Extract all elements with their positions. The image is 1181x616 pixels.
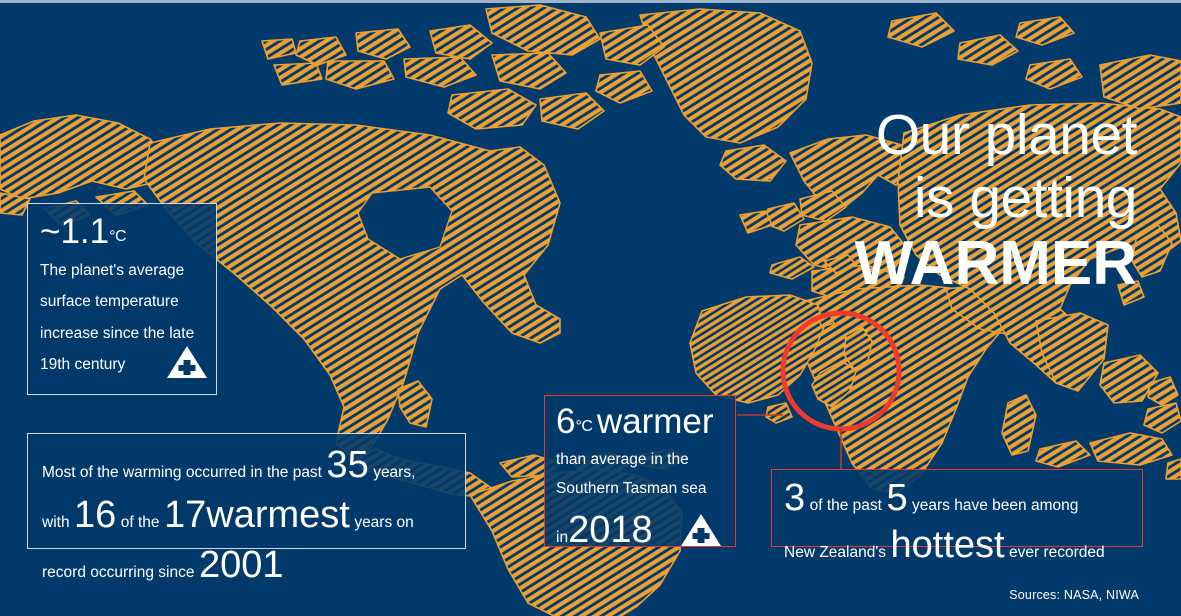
new-zealand-row-1: 3 of the past 5 years have been among (784, 479, 1130, 517)
warming-years-seg-4: of the (121, 514, 160, 531)
triangle-plus-icon (680, 513, 722, 547)
temperature-line-4-row: 19th century (40, 357, 204, 373)
new-zealand-seg-3: New Zealand's (784, 544, 886, 561)
tasman-line-2: than average in the (556, 452, 724, 468)
warming-years-row-1: Most of the warming occurred in the past… (42, 446, 451, 484)
tasman-row-1: 6°C warmer (556, 404, 724, 439)
temperature-line-2: surface temperature (40, 294, 204, 310)
warming-years-seg-1: Most of the warming occurred in the past (42, 464, 322, 481)
infographic-canvas: Our planet is getting WARMER ~1.1°C The … (0, 0, 1181, 616)
warming-years-num-4: 2001 (199, 544, 284, 586)
warming-years-row-2: with 16 of the 17warmest years on (42, 496, 451, 534)
new-zealand-num-2: 5 (886, 477, 907, 519)
tasman-row-4: in2018 (556, 511, 724, 549)
new-zealand-seg-4: ever recorded (1009, 544, 1105, 561)
tasman-line-3: Southern Tasman sea (556, 481, 724, 497)
temperature-line-3: increase since the late (40, 326, 204, 342)
fact-box-new-zealand: 3 of the past 5 years have been among Ne… (771, 469, 1143, 547)
temperature-line-1: The planet's average (40, 263, 204, 279)
temperature-unit: °C (109, 228, 126, 245)
tasman-value: 6 (556, 402, 575, 441)
tasman-word-warmer: warmer (597, 402, 714, 441)
headline-line-2: is getting (855, 170, 1137, 227)
headline: Our planet is getting WARMER (855, 107, 1137, 295)
tasman-unit: °C (575, 418, 592, 435)
warming-years-row-3: record occurring since 2001 (42, 546, 451, 584)
headline-line-1: Our planet (855, 107, 1137, 164)
fact-box-temperature: ~1.1°C The planet's average surface temp… (27, 203, 217, 395)
fact-box-warming-years: Most of the warming occurred in the past… (27, 433, 466, 549)
temperature-value: ~1.1 (40, 212, 109, 251)
warming-years-seg-3: with (42, 514, 70, 531)
fact-box-tasman-sea: 6°C warmer than average in the Southern … (544, 395, 736, 547)
temperature-headline: ~1.1°C (40, 214, 204, 249)
triangle-plus-icon (166, 345, 208, 379)
new-zealand-row-2: New Zealand's hottest ever recorded (784, 526, 1130, 564)
warming-years-word-warmest: warmest (206, 494, 350, 536)
new-zealand-highlight-circle (783, 313, 899, 429)
new-zealand-num-1: 3 (784, 477, 805, 519)
new-zealand-seg-1: of the past (810, 497, 882, 514)
tasman-line-4-year: 2018 (568, 509, 653, 551)
sources-credit: Sources: NASA, NIWA (1009, 588, 1139, 602)
new-zealand-word-hottest: hottest (891, 524, 1005, 566)
warming-years-seg-5: years on (354, 514, 413, 531)
warming-years-num-1: 35 (326, 444, 368, 486)
warming-years-num-3: 17 (164, 494, 206, 536)
headline-line-3: WARMER (855, 233, 1137, 295)
warming-years-num-2: 16 (74, 494, 116, 536)
tasman-line-4-prefix: in (556, 529, 568, 546)
warming-years-seg-6: record occurring since (42, 564, 194, 581)
new-zealand-seg-2: years have been among (912, 497, 1078, 514)
warming-years-seg-2: years, (373, 464, 415, 481)
temperature-line-4: 19th century (40, 356, 125, 373)
